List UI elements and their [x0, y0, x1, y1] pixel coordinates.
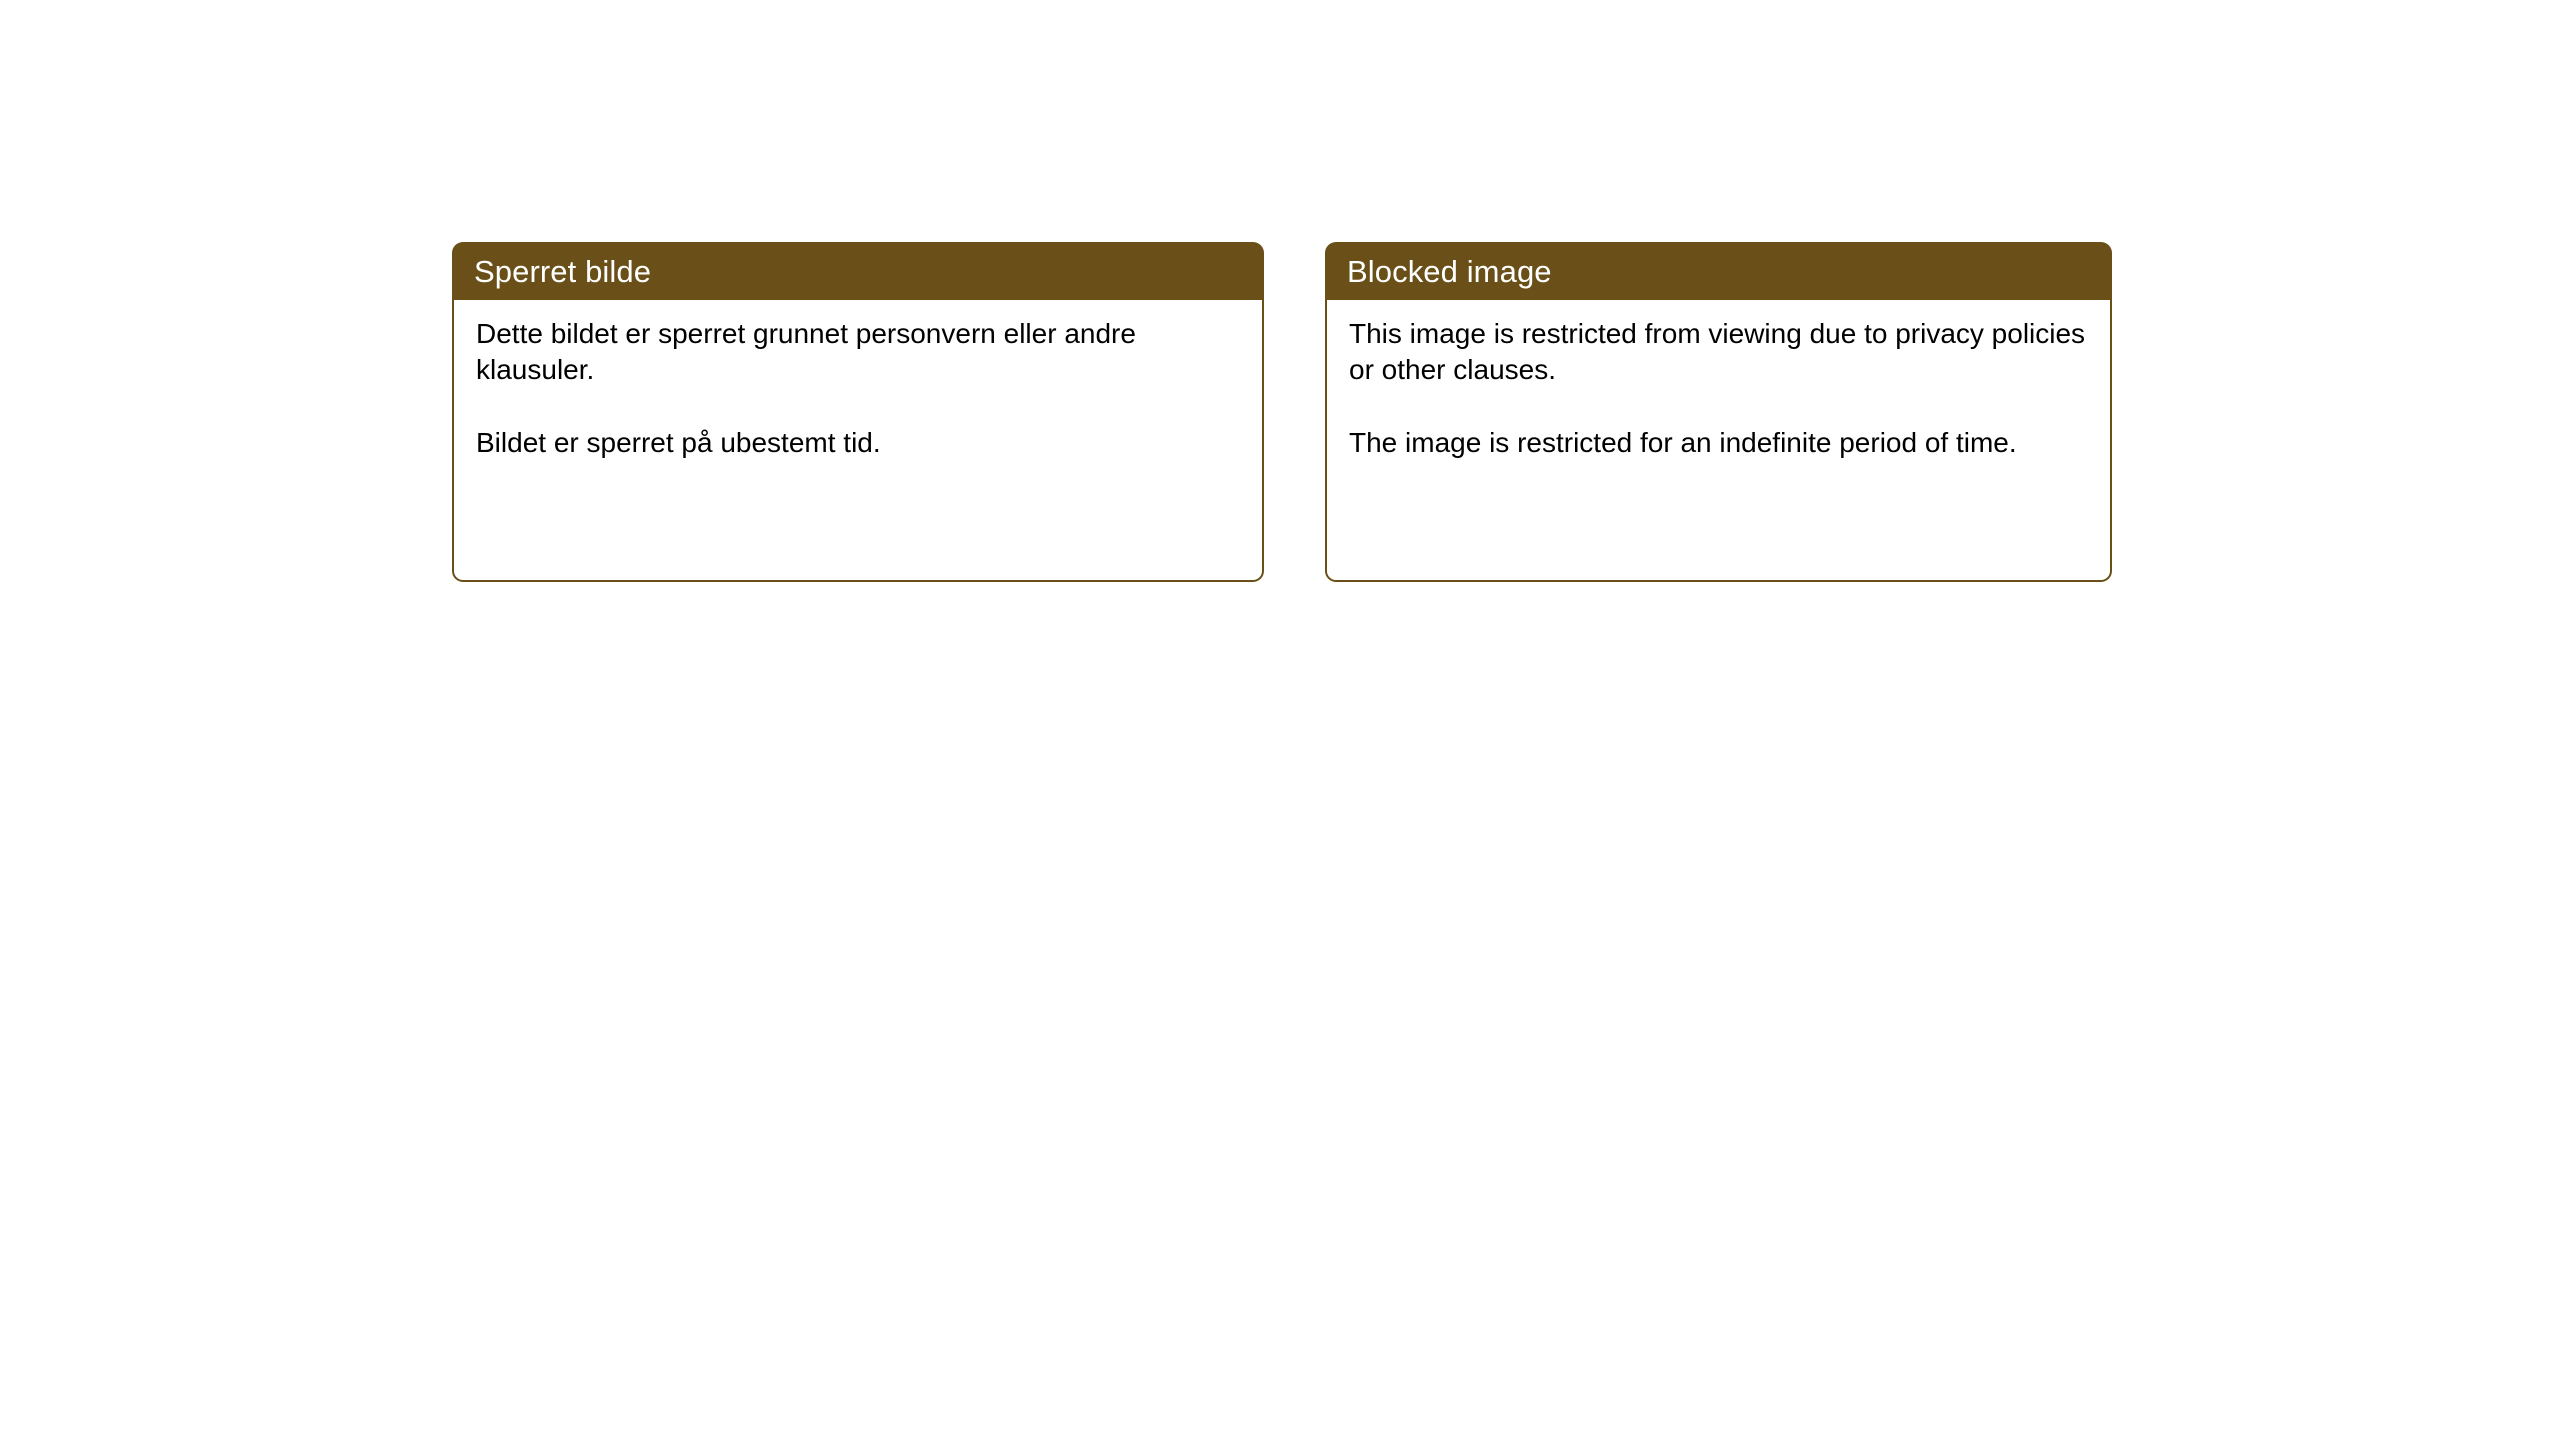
card-paragraph-primary-norwegian: Dette bildet er sperret grunnet personve… [476, 316, 1242, 388]
card-paragraph-primary-english: This image is restricted from viewing du… [1349, 316, 2090, 388]
card-header-english: Blocked image [1325, 242, 2112, 300]
card-body-english: This image is restricted from viewing du… [1325, 300, 2112, 582]
paragraph-spacer-english [1349, 388, 2090, 425]
card-title-norwegian: Sperret bilde [474, 256, 651, 287]
blocked-image-notice-card-english: Blocked image This image is restricted f… [1325, 242, 2112, 582]
card-title-english: Blocked image [1347, 256, 1552, 287]
card-body-norwegian: Dette bildet er sperret grunnet personve… [452, 300, 1264, 582]
blocked-image-notice-card-norwegian: Sperret bilde Dette bildet er sperret gr… [452, 242, 1264, 582]
paragraph-spacer-norwegian [476, 388, 1242, 425]
card-header-norwegian: Sperret bilde [452, 242, 1264, 300]
page-canvas: Sperret bilde Dette bildet er sperret gr… [0, 0, 2560, 1440]
card-paragraph-secondary-norwegian: Bildet er sperret på ubestemt tid. [476, 425, 1242, 461]
card-paragraph-secondary-english: The image is restricted for an indefinit… [1349, 425, 2090, 461]
